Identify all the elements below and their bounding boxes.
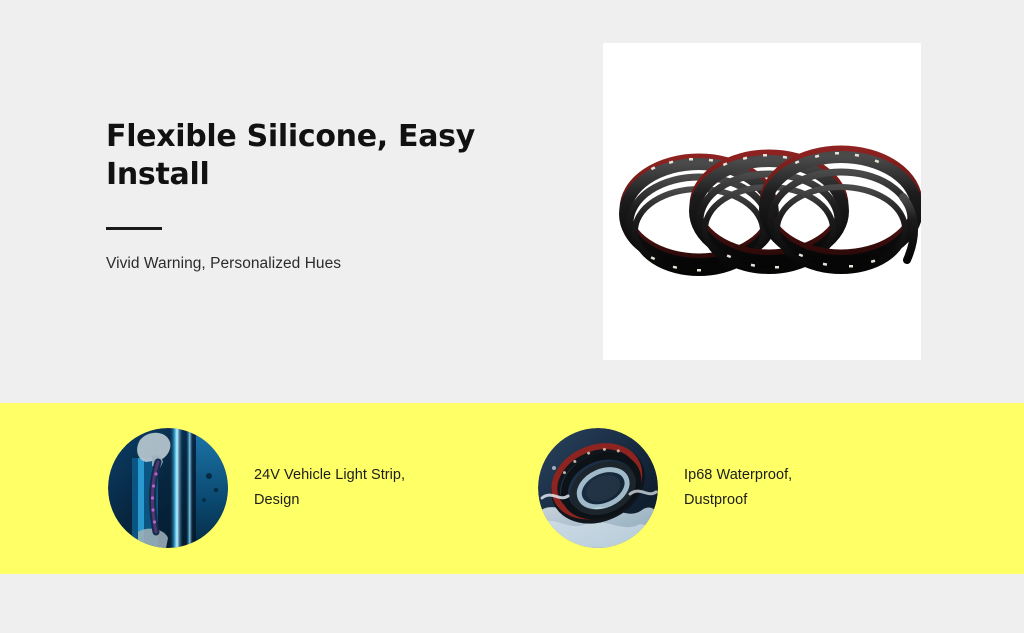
- hero-section: Flexible Silicone, Easy Install Vivid Wa…: [0, 0, 1024, 403]
- feature-label-line1: 24V Vehicle Light Strip,: [254, 467, 405, 483]
- feature-thumbnail-light-strip: [108, 428, 228, 548]
- product-image-panel: [603, 43, 921, 360]
- blue-light-strip-photo: [108, 428, 228, 548]
- feature-label-light-strip: 24V Vehicle Light Strip, Design: [254, 463, 454, 514]
- feature-label-line2: Design: [254, 492, 299, 508]
- feature-thumbnail-waterproof: [538, 428, 658, 548]
- hero-subtitle: Vivid Warning, Personalized Hues: [106, 230, 526, 273]
- feature-label-line1: Ip68 Waterproof,: [684, 467, 792, 483]
- feature-band: 24V Vehicle Light Strip, Design: [0, 403, 1024, 574]
- feature-label-waterproof: Ip68 Waterproof, Dustproof: [684, 463, 884, 514]
- feature-item-waterproof: Ip68 Waterproof, Dustproof: [538, 428, 884, 548]
- page-title: Flexible Silicone, Easy Install: [106, 118, 486, 195]
- waterproof-splash-photo: [538, 428, 658, 548]
- bottom-spacer-strip: [0, 574, 1024, 633]
- feature-label-line2: Dustproof: [684, 492, 747, 508]
- hero-copy-block: Flexible Silicone, Easy Install Vivid Wa…: [106, 118, 526, 273]
- feature-item-light-strip: 24V Vehicle Light Strip, Design: [108, 428, 454, 548]
- product-image-led-strip-coils: [603, 43, 921, 360]
